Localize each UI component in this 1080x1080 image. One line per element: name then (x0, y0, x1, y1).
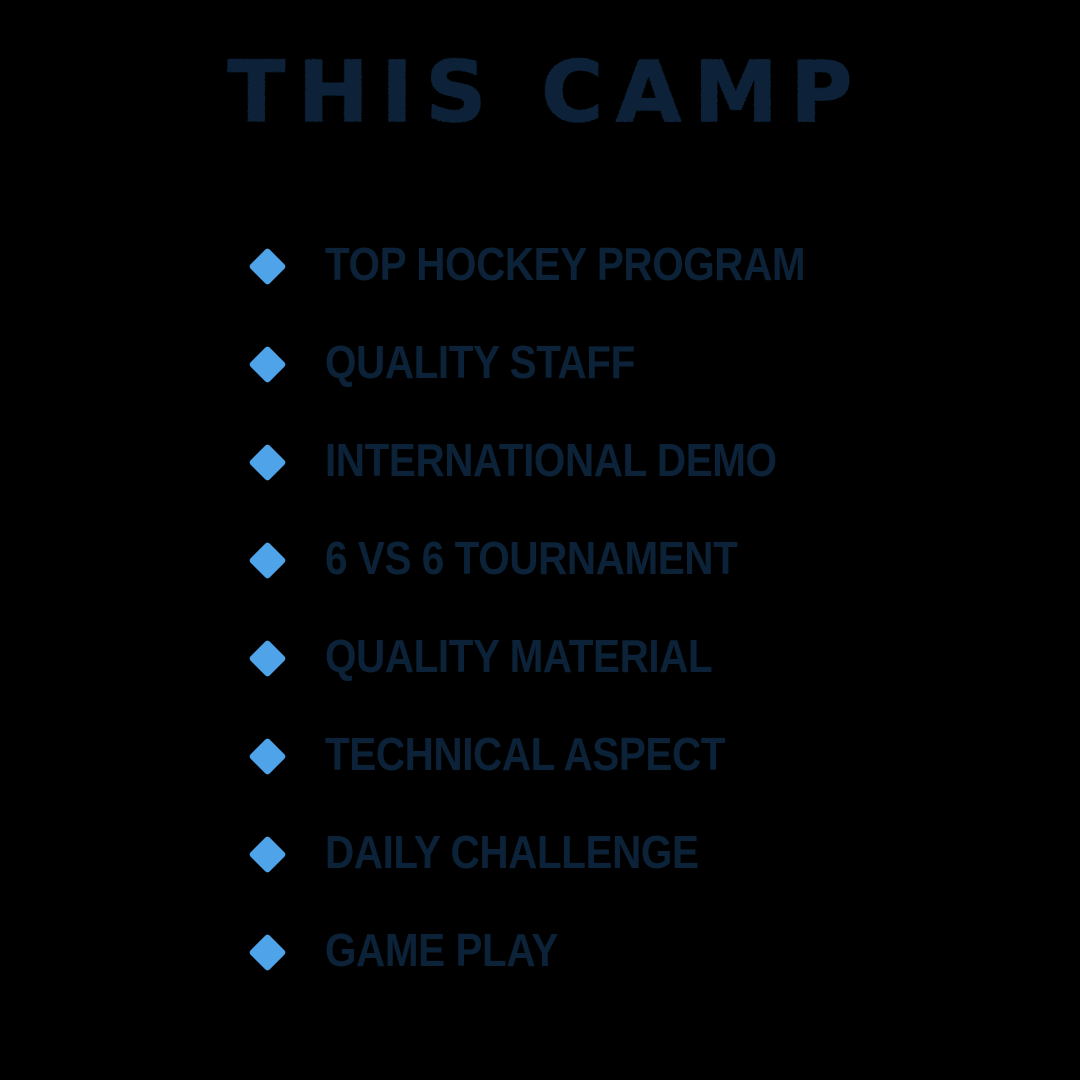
list-item: INTERNATIONAL DEMO (246, 437, 1066, 535)
list-item: QUALITY MATERIAL (246, 633, 1066, 731)
diamond-icon (248, 247, 286, 285)
diamond-icon (248, 541, 286, 579)
diamond-icon (248, 443, 286, 481)
page-title-text: THIS CAMP (215, 44, 865, 140)
diamond-icon (248, 835, 286, 873)
list-item: TECHNICAL ASPECT (246, 731, 1066, 829)
list-item-label: QUALITY MATERIAL (325, 633, 712, 679)
list-item-label: TECHNICAL ASPECT (325, 731, 725, 777)
list-item: 6 VS 6 TOURNAMENT (246, 535, 1066, 633)
list-item-label: INTERNATIONAL DEMO (325, 437, 777, 483)
list-item-label: DAILY CHALLENGE (325, 829, 699, 875)
list-item: TOP HOCKEY PROGRAM (246, 241, 1066, 339)
list-item: DAILY CHALLENGE (246, 829, 1066, 927)
poster-canvas: THIS CAMP TOP HOCKEY PROGRAM QUALITY STA… (0, 0, 1080, 1080)
list-item-label: GAME PLAY (325, 927, 558, 973)
list-item: GAME PLAY (246, 927, 1066, 1025)
diamond-icon (248, 345, 286, 383)
diamond-icon (248, 933, 286, 971)
list-item-label: TOP HOCKEY PROGRAM (325, 241, 805, 287)
list-item-label: 6 VS 6 TOURNAMENT (325, 535, 737, 581)
diamond-icon (248, 639, 286, 677)
feature-list: TOP HOCKEY PROGRAM QUALITY STAFF INTERNA… (246, 241, 1066, 1025)
page-title: THIS CAMP (0, 44, 1080, 140)
list-item-label: QUALITY STAFF (325, 339, 635, 385)
diamond-icon (248, 737, 286, 775)
list-item: QUALITY STAFF (246, 339, 1066, 437)
